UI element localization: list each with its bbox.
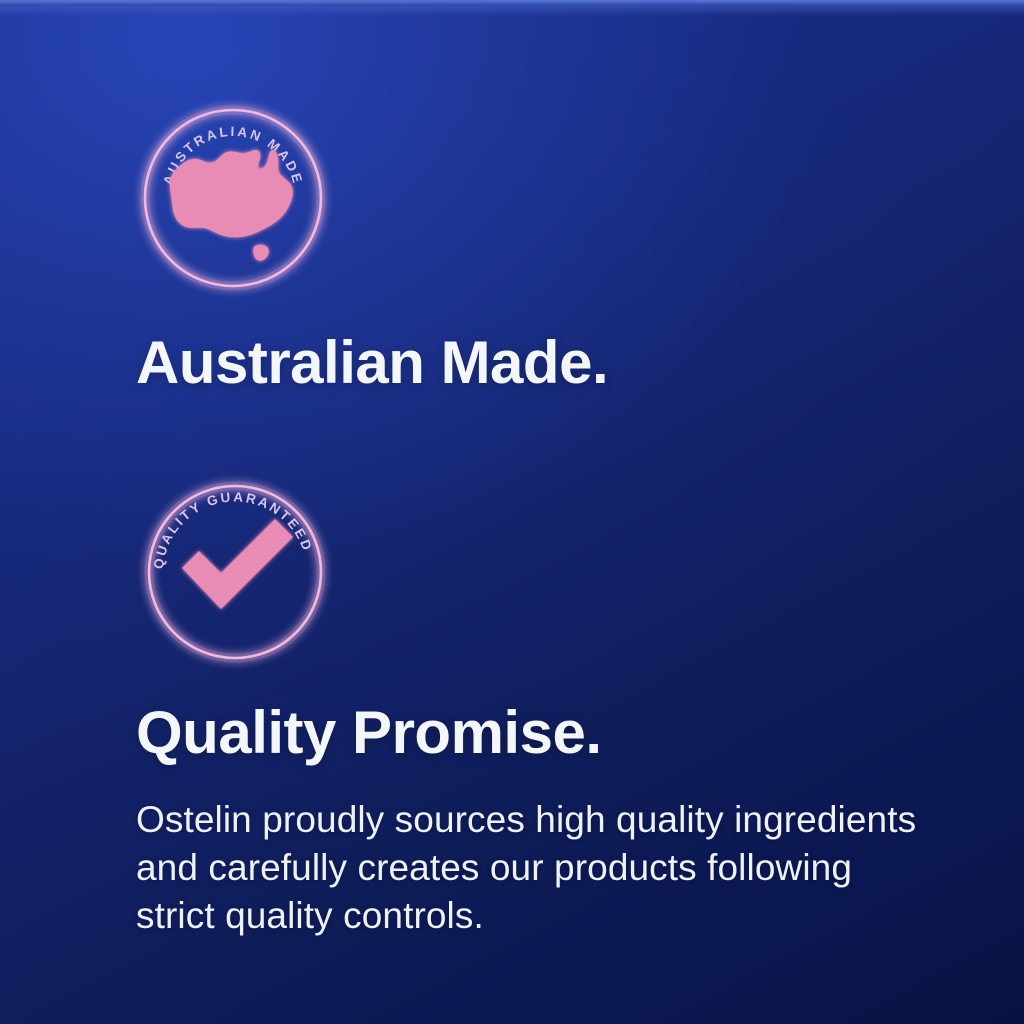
checkmark-icon [182, 519, 293, 609]
heading-australian-made: Australian Made. [136, 333, 608, 393]
quality-promise-description: Ostelin proudly sources high quality ing… [136, 796, 926, 940]
australian-made-badge-graphic: AUSTRALIAN MADE [133, 98, 333, 298]
top-edge-band-glow [0, 6, 1024, 16]
australia-map-icon [170, 150, 293, 261]
promo-card: AUSTRALIAN MADE Australian Made. [0, 0, 1024, 1024]
heading-quality-promise: Quality Promise. [136, 703, 602, 763]
badge-australian-made: AUSTRALIAN MADE [133, 98, 333, 298]
badge-quality-guaranteed: QUALITY GUARANTEED [135, 472, 335, 672]
quality-guaranteed-badge-graphic: QUALITY GUARANTEED [135, 472, 335, 672]
